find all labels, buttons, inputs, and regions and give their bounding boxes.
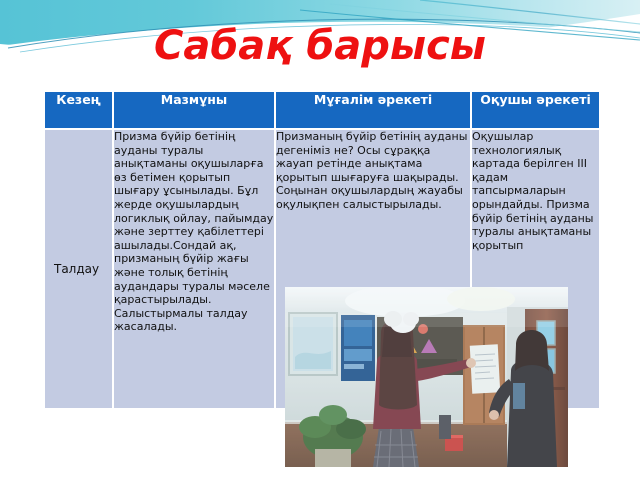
column-header-student-action: Оқушы әрекеті xyxy=(472,92,599,128)
column-header-teacher-action: Мұғалім әрекеті xyxy=(276,92,470,128)
table-header-row: Кезең Мазмұны Мұғалім әрекеті Оқушы әрек… xyxy=(45,92,599,128)
slide-title: Сабақ барысы xyxy=(0,22,640,70)
column-header-stage: Кезең xyxy=(45,92,112,128)
column-header-content: Мазмұны xyxy=(114,92,274,128)
cell-content: Призма бүйір бетінің ауданы туралы анықт… xyxy=(114,130,274,408)
cell-stage: Талдау xyxy=(45,130,112,408)
classroom-photo xyxy=(285,287,568,467)
presentation-slide: Сабақ барысы Кезең Мазмұны Мұғалім әреке… xyxy=(0,0,640,480)
